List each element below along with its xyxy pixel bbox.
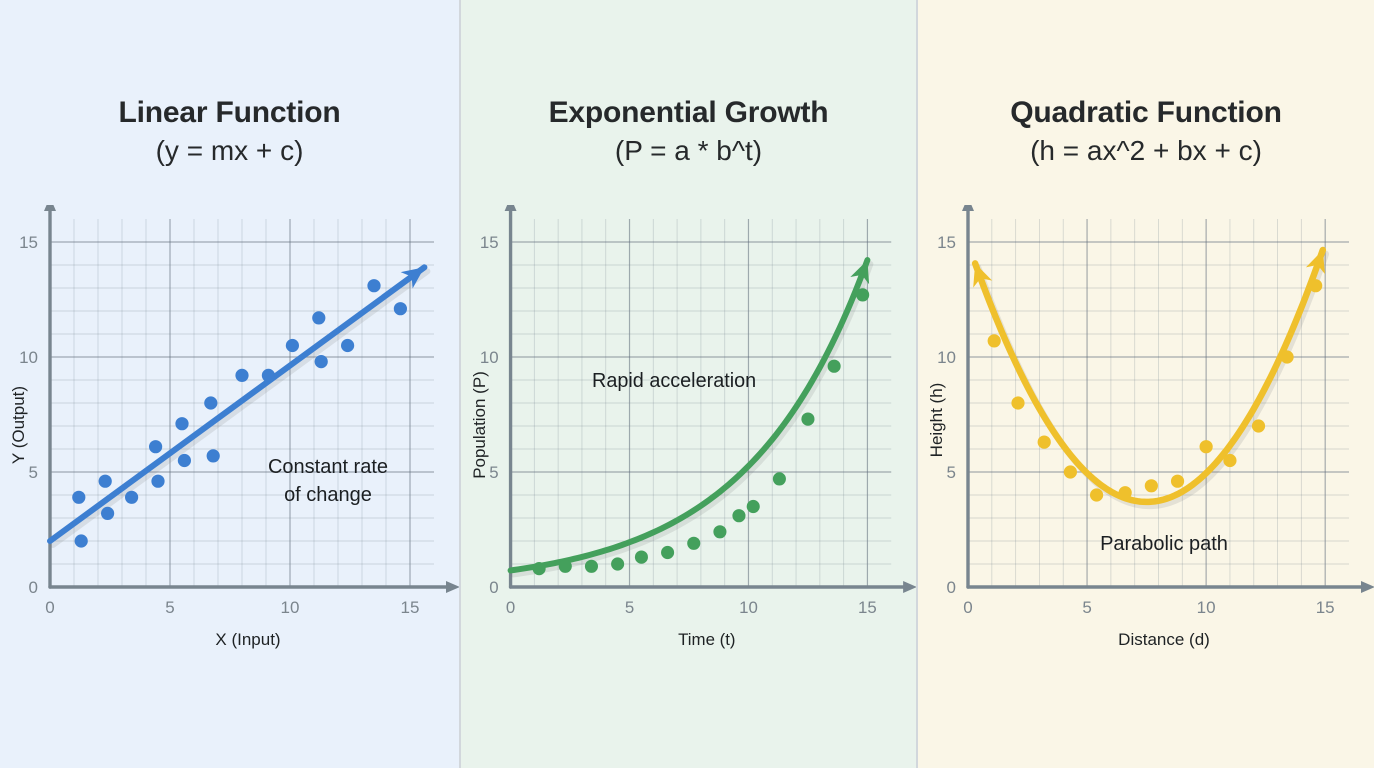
quadratic-chart-svg: 051015051015 Distance (d) Height (h) Par… xyxy=(918,205,1374,665)
data-point xyxy=(1280,350,1293,363)
y-tick-label: 10 xyxy=(480,348,499,367)
comparison-board: Linear Function (y = mx + c) 05101505101… xyxy=(0,0,1376,768)
x-tick-label: 15 xyxy=(401,598,420,617)
data-point xyxy=(1223,454,1236,467)
panel-exponential-plot: 051015051015 Time (t) Population (P) Rap… xyxy=(461,205,916,665)
x-axis-arrow-icon xyxy=(1361,581,1374,593)
data-point xyxy=(988,334,1001,347)
x-tick-label: 5 xyxy=(165,598,174,617)
linear-chart-svg: 051015051015 X (Input) Y (Output) Consta… xyxy=(0,205,459,665)
quadratic-yaxis-title: Height (h) xyxy=(927,383,946,458)
data-point xyxy=(1309,279,1322,292)
x-tick-label: 10 xyxy=(1197,598,1216,617)
x-tick-label: 0 xyxy=(963,598,972,617)
exponential-chart-svg: 051015051015 Time (t) Population (P) Rap… xyxy=(461,205,916,665)
panel-exponential-subtitle: (P = a * b^t) xyxy=(477,133,900,168)
panel-quadratic-plot: 051015051015 Distance (d) Height (h) Par… xyxy=(918,205,1374,665)
data-point xyxy=(341,339,354,352)
panel-linear-subtitle: (y = mx + c) xyxy=(16,133,443,168)
quadratic-ticklabels: 051015051015 xyxy=(937,233,1335,617)
trendline-path xyxy=(511,260,868,570)
data-point xyxy=(533,562,546,575)
data-point xyxy=(1200,440,1213,453)
data-point xyxy=(151,475,164,488)
panel-exponential-title: Exponential Growth xyxy=(477,96,900,130)
panel-linear-title: Linear Function xyxy=(16,96,443,130)
data-point xyxy=(713,525,726,538)
panel-quadratic-titlebox: Quadratic Function (h = ax^2 + bx + c) xyxy=(918,96,1374,168)
data-point xyxy=(175,417,188,430)
data-point xyxy=(204,396,217,409)
x-tick-label: 0 xyxy=(506,598,515,617)
quadratic-xaxis-title: Distance (d) xyxy=(1118,630,1210,649)
exponential-trendline xyxy=(511,256,877,574)
exponential-xaxis-title: Time (t) xyxy=(678,630,735,649)
data-point xyxy=(773,472,786,485)
data-point xyxy=(1252,419,1265,432)
data-point xyxy=(801,413,814,426)
linear-annotation-line2: of change xyxy=(284,484,372,506)
data-point xyxy=(828,360,841,373)
data-point xyxy=(178,454,191,467)
data-point xyxy=(687,537,700,550)
quadratic-annotation-line1: Parabolic path xyxy=(1100,533,1228,555)
data-point xyxy=(235,369,248,382)
data-point xyxy=(732,509,745,522)
panel-linear-plot: 051015051015 X (Input) Y (Output) Consta… xyxy=(0,205,459,665)
data-point xyxy=(1064,465,1077,478)
data-point xyxy=(661,546,674,559)
data-point xyxy=(1171,475,1184,488)
data-point xyxy=(367,279,380,292)
y-tick-label: 10 xyxy=(937,348,956,367)
data-point xyxy=(1145,479,1158,492)
panel-exponential-titlebox: Exponential Growth (P = a * b^t) xyxy=(461,96,916,168)
y-tick-label: 5 xyxy=(947,463,956,482)
panel-quadratic-title: Quadratic Function xyxy=(934,96,1358,130)
x-tick-label: 0 xyxy=(45,598,54,617)
exponential-annotation-line1: Rapid acceleration xyxy=(592,370,756,392)
y-tick-label: 15 xyxy=(937,233,956,252)
x-tick-label: 10 xyxy=(739,598,758,617)
data-point xyxy=(1011,396,1024,409)
x-tick-label: 5 xyxy=(625,598,634,617)
y-tick-label: 0 xyxy=(29,578,38,597)
data-point xyxy=(1038,436,1051,449)
data-point xyxy=(99,475,112,488)
panel-exponential: Exponential Growth (P = a * b^t) 0510150… xyxy=(459,0,918,768)
panel-quadratic: Quadratic Function (h = ax^2 + bx + c) 0… xyxy=(918,0,1374,768)
quadratic-gridlines xyxy=(968,219,1349,587)
data-point xyxy=(312,311,325,324)
y-tick-label: 0 xyxy=(489,578,498,597)
data-point xyxy=(585,560,598,573)
panel-quadratic-subtitle: (h = ax^2 + bx + c) xyxy=(934,133,1358,168)
x-tick-label: 15 xyxy=(858,598,877,617)
exponential-ticklabels: 051015051015 xyxy=(480,233,877,617)
data-point xyxy=(559,560,572,573)
x-tick-label: 10 xyxy=(281,598,300,617)
x-tick-label: 15 xyxy=(1316,598,1335,617)
linear-xaxis-title: X (Input) xyxy=(215,630,280,649)
data-point xyxy=(856,288,869,301)
y-tick-label: 10 xyxy=(19,348,38,367)
linear-trendline xyxy=(50,259,430,545)
data-point xyxy=(635,551,648,564)
x-axis-arrow-icon xyxy=(903,581,916,593)
y-tick-label: 15 xyxy=(480,233,499,252)
data-point xyxy=(262,369,275,382)
data-point xyxy=(1119,486,1132,499)
data-point xyxy=(207,449,220,462)
y-tick-label: 5 xyxy=(489,463,498,482)
exponential-gridlines xyxy=(511,219,892,587)
data-point xyxy=(72,491,85,504)
data-point xyxy=(125,491,138,504)
data-point xyxy=(1090,488,1103,501)
data-point xyxy=(75,534,88,547)
data-point xyxy=(149,440,162,453)
y-axis-arrow-icon xyxy=(505,205,517,211)
data-point xyxy=(101,507,114,520)
data-point xyxy=(286,339,299,352)
data-point xyxy=(611,557,624,570)
data-point xyxy=(315,355,328,368)
data-point xyxy=(747,500,760,513)
x-tick-label: 5 xyxy=(1082,598,1091,617)
data-point xyxy=(394,302,407,315)
y-tick-label: 0 xyxy=(947,578,956,597)
y-tick-label: 15 xyxy=(19,233,38,252)
y-axis-arrow-icon xyxy=(962,205,974,211)
linear-annotation-line1: Constant rate xyxy=(268,456,388,478)
panel-linear: Linear Function (y = mx + c) 05101505101… xyxy=(0,0,459,768)
exponential-yaxis-title: Population (P) xyxy=(470,371,489,479)
y-axis-arrow-icon xyxy=(44,205,56,211)
x-axis-arrow-icon xyxy=(446,581,459,593)
exponential-axes xyxy=(505,205,916,593)
linear-yaxis-title: Y (Output) xyxy=(9,386,28,464)
panel-linear-titlebox: Linear Function (y = mx + c) xyxy=(0,96,459,168)
y-tick-label: 5 xyxy=(29,463,38,482)
